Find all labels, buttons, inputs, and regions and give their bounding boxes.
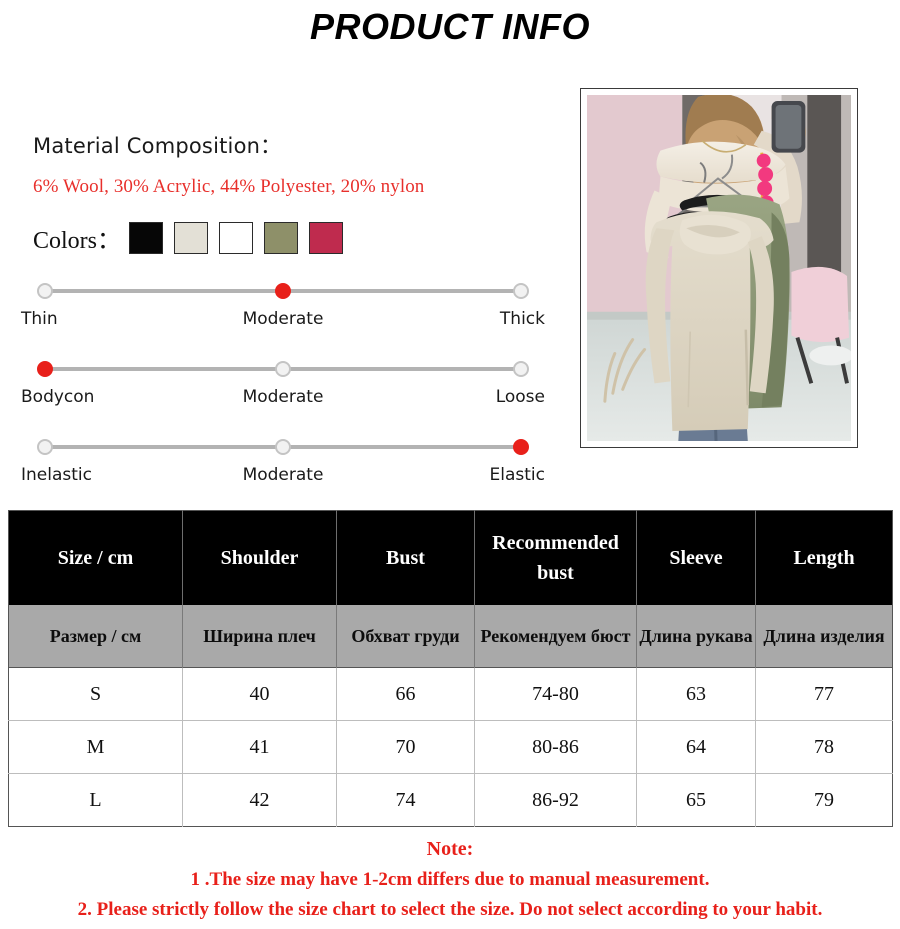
color-swatch-white[interactable] xyxy=(219,222,253,254)
note-line-1: 1 .The size may have 1-2cm differs due t… xyxy=(0,869,900,891)
cell-bust: 74 xyxy=(337,774,475,827)
material-composition-value: 6% Wool, 30% Acrylic, 44% Polyester, 20%… xyxy=(33,176,553,198)
header-size-cm: Size / cm xyxy=(9,511,183,606)
cell-bust: 66 xyxy=(337,668,475,721)
material-composition-label: Material Composition： xyxy=(33,130,553,160)
slider-thickness-label-left: Thin xyxy=(21,309,58,329)
cell-sleeve: 65 xyxy=(637,774,756,827)
slider-thickness-label-right: Thick xyxy=(500,309,545,329)
slider-thickness[interactable]: Thin Moderate Thick xyxy=(33,281,533,333)
slider-fit-handle-right[interactable] xyxy=(513,361,529,377)
slider-fit-track-wrap[interactable] xyxy=(33,359,533,379)
cell-size: L xyxy=(9,774,183,827)
slider-fit-handle-left[interactable] xyxy=(37,361,53,377)
note-section: Note: 1 .The size may have 1-2cm differs… xyxy=(0,838,900,921)
header-length: Length xyxy=(756,511,893,606)
color-swatch-beige[interactable] xyxy=(174,222,208,254)
slider-elasticity-handle-left[interactable] xyxy=(37,439,53,455)
cell-shoulder: 42 xyxy=(183,774,337,827)
header-ru-length: Длина изделия xyxy=(756,605,893,668)
header-ru-size: Размер / см xyxy=(9,605,183,668)
size-chart-table: Size / cm Shoulder Bust Recommended bust… xyxy=(8,510,893,827)
color-swatch-olive[interactable] xyxy=(264,222,298,254)
product-photo-frame xyxy=(580,88,858,448)
cell-bust: 70 xyxy=(337,721,475,774)
slider-fit-label-mid: Moderate xyxy=(243,387,324,407)
cell-shoulder: 40 xyxy=(183,668,337,721)
header-recommended-bust: Recommended bust xyxy=(475,511,637,606)
header-bust: Bust xyxy=(337,511,475,606)
header-ru-recommended-bust: Рекомендуем бюст xyxy=(475,605,637,668)
cell-size: S xyxy=(9,668,183,721)
cell-sleeve: 64 xyxy=(637,721,756,774)
cell-length: 79 xyxy=(756,774,893,827)
slider-thickness-label-mid: Moderate xyxy=(243,309,324,329)
color-swatch-crimson[interactable] xyxy=(309,222,343,254)
slider-thickness-handle-right[interactable] xyxy=(513,283,529,299)
slider-elasticity-label-left: Inelastic xyxy=(21,465,92,485)
cell-recommended-bust: 80-86 xyxy=(475,721,637,774)
header-sleeve: Sleeve xyxy=(637,511,756,606)
header-shoulder: Shoulder xyxy=(183,511,337,606)
slider-elasticity-handle-mid[interactable] xyxy=(275,439,291,455)
slider-elasticity-handle-right[interactable] xyxy=(513,439,529,455)
slider-thickness-labels: Thin Moderate Thick xyxy=(33,309,533,333)
table-row: L 42 74 86-92 65 79 xyxy=(9,774,893,827)
color-swatch-black[interactable] xyxy=(129,222,163,254)
cell-recommended-bust: 74-80 xyxy=(475,668,637,721)
slider-fit-labels: Bodycon Moderate Loose xyxy=(33,387,533,411)
cell-recommended-bust: 86-92 xyxy=(475,774,637,827)
cell-length: 78 xyxy=(756,721,893,774)
slider-fit-handle-mid[interactable] xyxy=(275,361,291,377)
slider-elasticity-label-mid: Moderate xyxy=(243,465,324,485)
table-header-row-ru: Размер / см Ширина плеч Обхват груди Рек… xyxy=(9,605,893,668)
slider-fit[interactable]: Bodycon Moderate Loose xyxy=(33,359,533,411)
page-title: PRODUCT INFO xyxy=(0,6,900,48)
header-ru-bust: Обхват груди xyxy=(337,605,475,668)
table-row: M 41 70 80-86 64 78 xyxy=(9,721,893,774)
note-title: Note: xyxy=(0,838,900,861)
table-header-row-en: Size / cm Shoulder Bust Recommended bust… xyxy=(9,511,893,606)
slider-elasticity-labels: Inelastic Moderate Elastic xyxy=(33,465,533,489)
slider-elasticity[interactable]: Inelastic Moderate Elastic xyxy=(33,437,533,489)
header-ru-shoulder: Ширина плеч xyxy=(183,605,337,668)
cell-length: 77 xyxy=(756,668,893,721)
slider-fit-label-right: Loose xyxy=(496,387,545,407)
colors-row: Colors： xyxy=(33,220,553,255)
slider-elasticity-track-wrap[interactable] xyxy=(33,437,533,457)
note-line-2: 2. Please strictly follow the size chart… xyxy=(0,899,900,921)
product-photo xyxy=(587,95,851,441)
cell-sleeve: 63 xyxy=(637,668,756,721)
slider-fit-label-left: Bodycon xyxy=(21,387,94,407)
product-info-column: Material Composition： 6% Wool, 30% Acryl… xyxy=(33,130,553,489)
slider-thickness-track-wrap[interactable] xyxy=(33,281,533,301)
slider-elasticity-label-right: Elastic xyxy=(490,465,545,485)
cell-shoulder: 41 xyxy=(183,721,337,774)
colors-label: Colors： xyxy=(33,220,121,255)
header-ru-sleeve: Длина рукава xyxy=(637,605,756,668)
cell-size: M xyxy=(9,721,183,774)
slider-thickness-handle-left[interactable] xyxy=(37,283,53,299)
table-row: S 40 66 74-80 63 77 xyxy=(9,668,893,721)
product-photo-illustration xyxy=(587,95,851,441)
slider-thickness-handle-mid[interactable] xyxy=(275,283,291,299)
